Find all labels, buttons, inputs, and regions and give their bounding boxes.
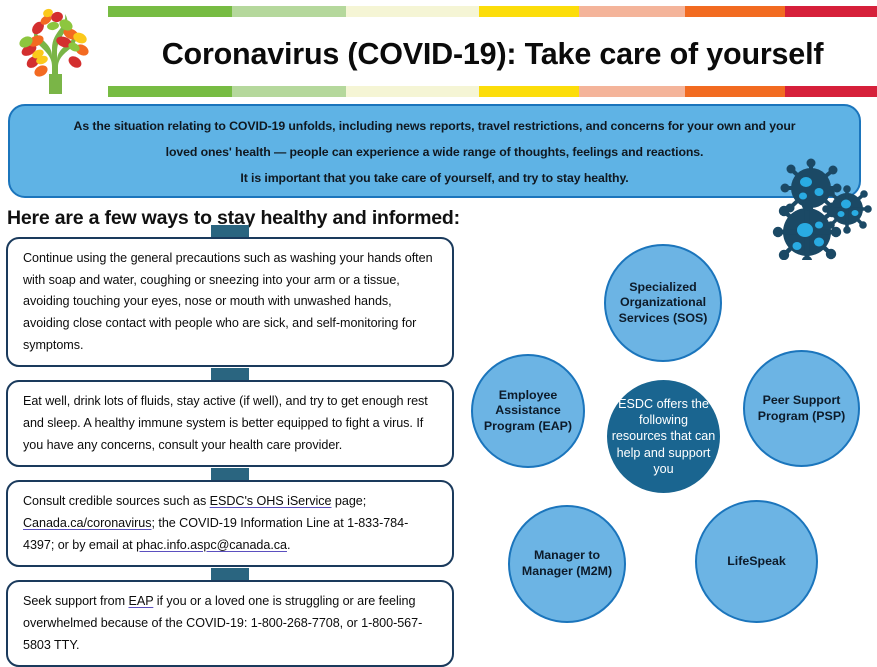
color-segment-cream: [346, 86, 479, 97]
tree-icon: [8, 4, 108, 96]
step-text: Continue using the general precautions s…: [23, 248, 439, 356]
step-item: Seek support from EAP if you or a loved …: [6, 580, 454, 667]
inline-link[interactable]: phac.info.aspc@canada.ca: [136, 538, 287, 552]
inline-text: Consult credible sources such as: [23, 494, 210, 508]
bubble-psp[interactable]: Peer Support Program (PSP): [743, 350, 860, 467]
color-segment-light-green: [232, 6, 346, 17]
step-text: Eat well, drink lots of fluids, stay act…: [23, 391, 439, 456]
step-text: Consult credible sources such as ESDC's …: [23, 491, 439, 556]
color-segment-yellow: [479, 6, 580, 17]
intro-line-2: loved ones' health — people can experien…: [166, 146, 704, 160]
color-segment-peach: [579, 6, 684, 17]
color-segment-red: [785, 86, 877, 97]
bubble-eap[interactable]: Employee Assistance Program (EAP): [471, 354, 585, 468]
page-header: Coronavirus (COVID-19): Take care of you…: [0, 0, 877, 100]
inline-text: Seek support from: [23, 594, 129, 608]
color-segment-orange: [685, 6, 786, 17]
color-segment-orange: [685, 86, 786, 97]
header-color-bar-top: [108, 6, 877, 17]
intro-line-1: As the situation relating to COVID-19 un…: [74, 120, 796, 134]
intro-line-3: It is important that you take care of yo…: [240, 172, 628, 186]
color-segment-green: [108, 86, 232, 97]
color-segment-yellow: [479, 86, 580, 97]
color-segment-red: [785, 6, 877, 17]
bubble-lifespeak[interactable]: LifeSpeak: [695, 500, 818, 623]
inline-link[interactable]: Canada.ca/coronavirus: [23, 516, 151, 530]
color-segment-green: [108, 6, 232, 17]
color-segment-light-green: [232, 86, 346, 97]
step-box-nutrition-rest: Eat well, drink lots of fluids, stay act…: [6, 380, 454, 467]
inline-text: .: [287, 538, 290, 552]
page-title: Coronavirus (COVID-19): Take care of you…: [108, 26, 877, 82]
coronavirus-icon: [753, 158, 877, 260]
step-item: Consult credible sources such as ESDC's …: [6, 480, 454, 567]
header-color-bar-bottom: [108, 86, 877, 97]
step-box-credible-sources: Consult credible sources such as ESDC's …: [6, 480, 454, 567]
step-box-seek-support: Seek support from EAP if you or a loved …: [6, 580, 454, 667]
step-item: Continue using the general precautions s…: [6, 237, 454, 367]
bubble-center-esdc: ESDC offers the following resources that…: [607, 380, 720, 493]
step-item: Eat well, drink lots of fluids, stay act…: [6, 380, 454, 467]
inline-link[interactable]: ESDC's OHS iService: [210, 494, 332, 508]
inline-link[interactable]: EAP: [129, 594, 154, 608]
inline-text: page;: [331, 494, 366, 508]
bubble-m2m[interactable]: Manager to Manager (M2M): [508, 505, 626, 623]
bubble-sos[interactable]: Specialized Organizational Services (SOS…: [604, 244, 722, 362]
resources-diagram: Specialized Organizational Services (SOS…: [455, 232, 877, 652]
step-text: Seek support from EAP if you or a loved …: [23, 591, 439, 656]
color-segment-cream: [346, 6, 479, 17]
steps-list: Continue using the general precautions s…: [6, 237, 454, 667]
color-segment-peach: [579, 86, 684, 97]
intro-banner: As the situation relating to COVID-19 un…: [8, 104, 861, 198]
step-box-precautions: Continue using the general precautions s…: [6, 237, 454, 367]
